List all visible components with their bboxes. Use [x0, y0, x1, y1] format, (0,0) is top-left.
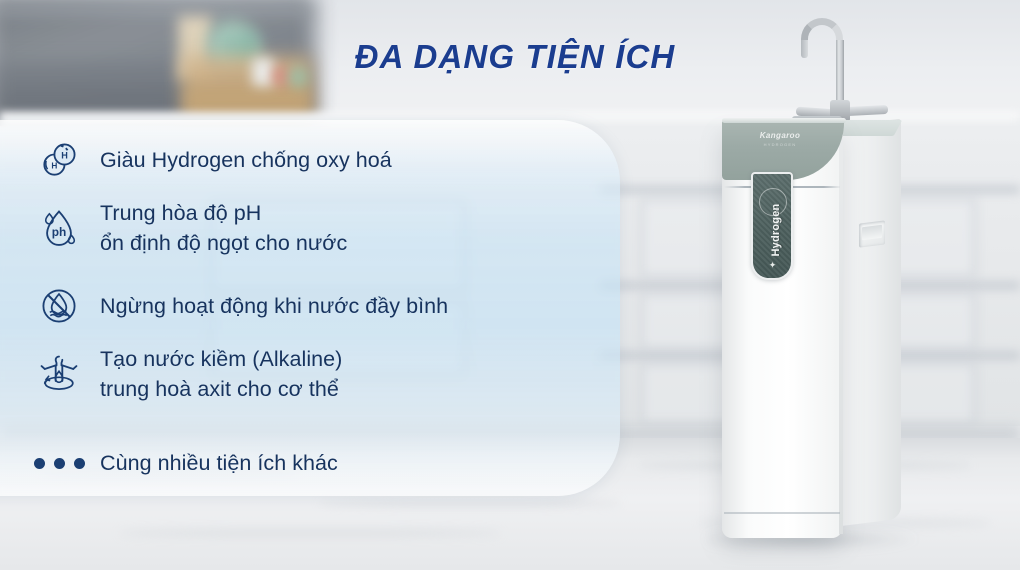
promo-banner: Kangaroo HYDROGEN Hydrogen WATER PURIFIE…: [0, 0, 1020, 570]
water-purifier-product: Kangaroo HYDROGEN Hydrogen WATER PURIFIE…: [700, 0, 1020, 570]
product-brand-subtitle: HYDROGEN: [736, 142, 824, 147]
no-water-overflow-icon: [28, 278, 90, 334]
ph-droplet-icon: ph: [28, 200, 90, 256]
hydrogen-molecule-icon: H H: [28, 132, 90, 188]
list-item: Cùng nhiều tiện ích khác: [0, 438, 620, 488]
list-item: Tạo nước kiềm (Alkaline) trung hoà axit …: [0, 338, 620, 410]
list-item-label: Trung hòa độ pH ổn định độ ngọt cho nước: [90, 198, 347, 258]
dot: [74, 458, 85, 469]
product-side-handle-recess: [862, 225, 882, 240]
dot: [54, 458, 65, 469]
list-item: H H Giàu Hydrogen chống oxy hoá: [0, 132, 620, 188]
product-side-handle: [859, 220, 885, 247]
svg-text:ph: ph: [52, 225, 67, 239]
product-base-seam: [724, 512, 840, 514]
list-item-label: Ngừng hoạt động khi nước đầy bình: [90, 291, 448, 321]
background-jar: [252, 58, 274, 86]
more-dots-icon: [28, 435, 90, 491]
faucet-spout: [801, 40, 808, 58]
product-side-panel: [841, 119, 901, 526]
list-item-label: Giàu Hydrogen chống oxy hoá: [90, 145, 392, 175]
list-item-label: Cùng nhiều tiện ích khác: [90, 448, 338, 478]
list-item: ph Trung hòa độ pH ổn định độ ngọt cho n…: [0, 192, 620, 264]
features-list: H H Giàu Hydrogen chống oxy hoá ph Trung…: [0, 120, 620, 496]
hydrogen-badge: Hydrogen WATER PURIFIER ✦: [751, 172, 793, 280]
alkaline-body-icon: [28, 346, 90, 402]
svg-text:H: H: [51, 161, 57, 170]
product-brand-logo: Kangaroo: [736, 132, 824, 140]
list-item-label: Tạo nước kiềm (Alkaline) trung hoà axit …: [90, 344, 342, 404]
svg-text:H: H: [61, 151, 68, 161]
page-title: ĐA DẠNG TIỆN ÍCH: [300, 38, 730, 76]
list-item: Ngừng hoạt động khi nước đầy bình: [0, 278, 620, 334]
floor-vein: [320, 500, 620, 506]
badge-star-icon: ✦: [768, 261, 777, 270]
faucet-lever-right: [846, 105, 888, 116]
badge-sublabel: WATER PURIFIER: [775, 197, 780, 257]
product-top-lip: [722, 118, 846, 123]
dot: [34, 458, 45, 469]
floor-vein: [120, 530, 500, 536]
